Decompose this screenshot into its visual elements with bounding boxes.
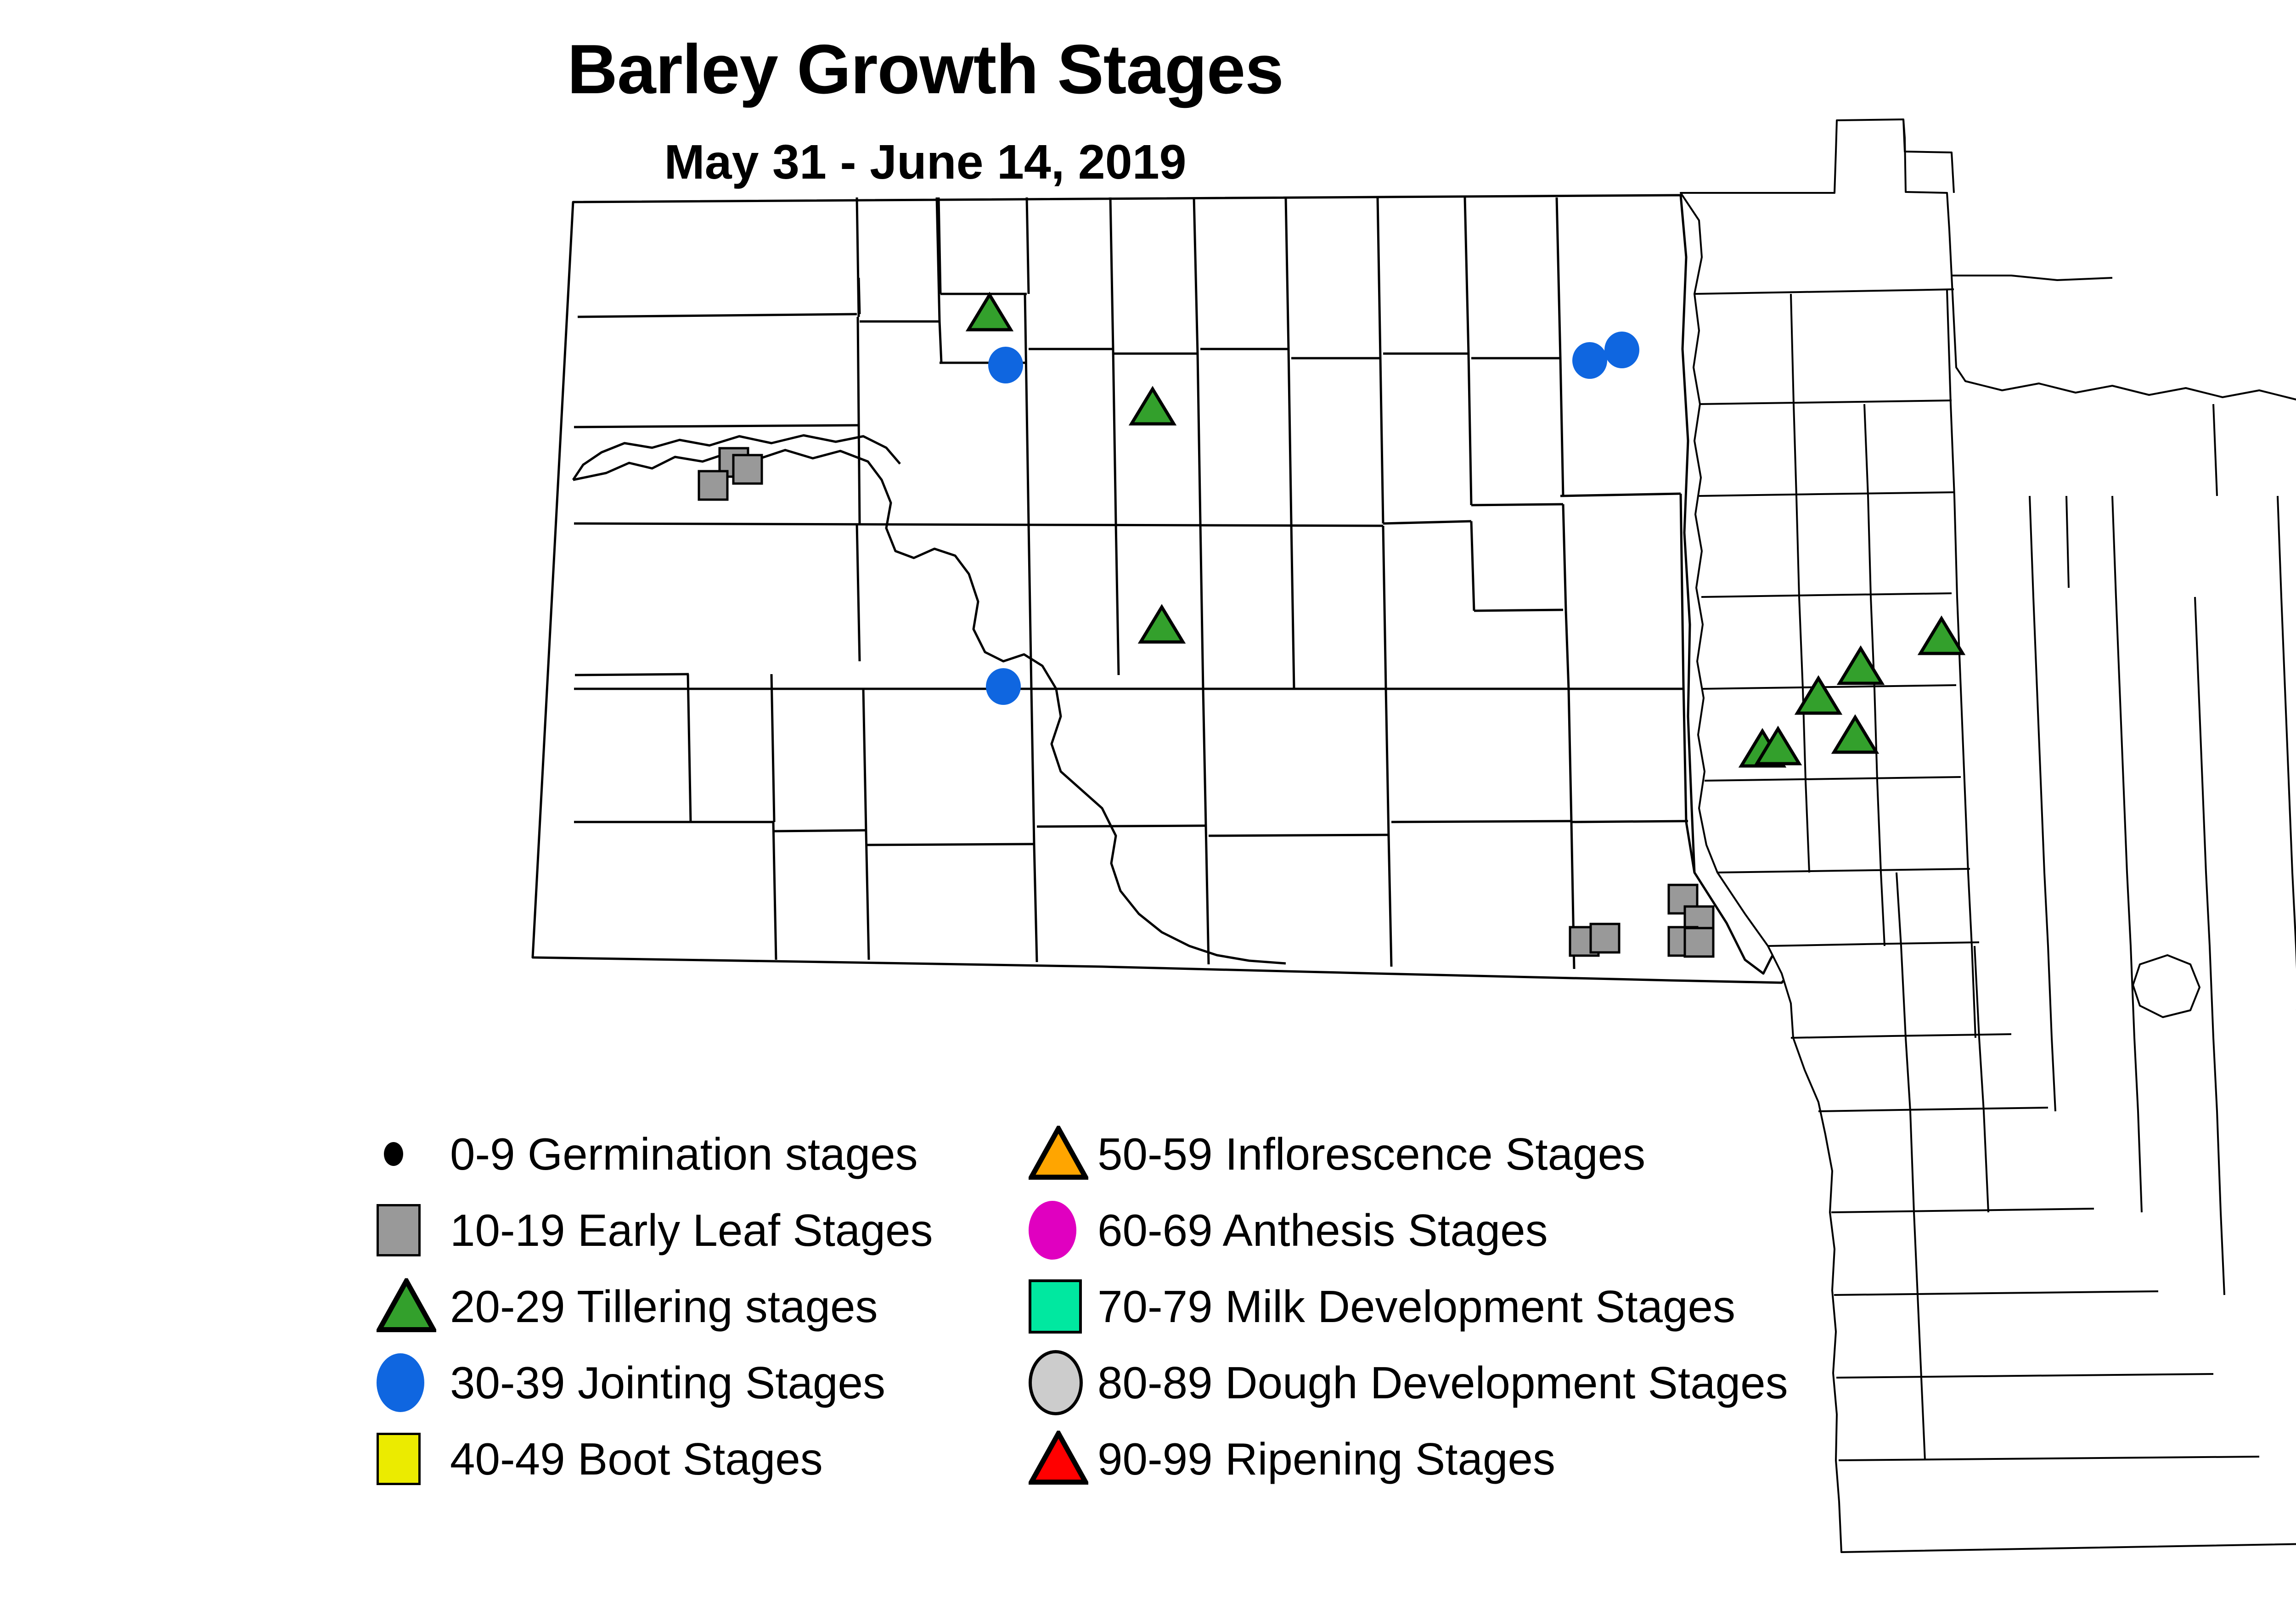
legend-item-milk-development[interactable]: 70-79 Milk Development Stages: [1010, 1268, 1919, 1345]
map-marker: [1572, 342, 1607, 379]
legend-item-label: 50-59 Inflorescence Stages: [1097, 1132, 1645, 1177]
circle-marker-icon: [1029, 1201, 1076, 1260]
legend-item-label: 90-99 Ripening Stages: [1097, 1436, 1555, 1481]
map-marker: [699, 471, 727, 500]
triangle-marker-icon: [377, 1278, 436, 1335]
date-range-subtitle: May 31 - June 14, 2019: [0, 138, 1851, 186]
legend-item-label: 60-69 Anthesis Stages: [1097, 1208, 1548, 1253]
legend-item-label: 40-49 Boot Stages: [450, 1436, 823, 1481]
map-marker: [986, 668, 1021, 705]
map-marker: [1797, 678, 1840, 713]
legend-item-tillering[interactable]: 20-29 Tillering stages: [358, 1268, 955, 1345]
map-marker: [1604, 332, 1639, 368]
legend-item-label: 70-79 Milk Development Stages: [1097, 1284, 1735, 1329]
map-marker: [1840, 648, 1882, 683]
map-marker: [968, 295, 1011, 330]
map-marker: [1131, 389, 1174, 424]
legend-item-label: 80-89 Dough Development Stages: [1097, 1360, 1788, 1405]
legend-item-anthesis[interactable]: 60-69 Anthesis Stages: [1010, 1192, 1919, 1268]
map-marker: [1834, 717, 1876, 752]
map-marker: [1141, 607, 1183, 642]
legend-item-germination[interactable]: 0-9 Germination stages: [358, 1116, 955, 1192]
map-marker: [988, 347, 1023, 383]
triangle-marker-icon: [1029, 1431, 1088, 1487]
legend-column-left: 0-9 Germination stages 10-19 Early Leaf …: [358, 1116, 955, 1497]
circle-marker-icon: [384, 1142, 403, 1166]
legend: 0-9 Germination stages 10-19 Early Leaf …: [358, 1116, 1919, 1483]
legend-item-boot[interactable]: 40-49 Boot Stages: [358, 1421, 955, 1497]
map-marker: [1685, 928, 1713, 957]
circle-marker-icon: [1029, 1350, 1083, 1415]
legend-item-ripening[interactable]: 90-99 Ripening Stages: [1010, 1421, 1919, 1497]
legend-item-inflorescence[interactable]: 50-59 Inflorescence Stages: [1010, 1116, 1919, 1192]
map-marker: [1920, 619, 1963, 653]
legend-item-label: 0-9 Germination stages: [450, 1132, 918, 1177]
square-marker-icon: [377, 1204, 421, 1256]
legend-column-right: 50-59 Inflorescence Stages 60-69 Anthesi…: [1010, 1116, 1919, 1497]
square-marker-icon: [1029, 1279, 1082, 1334]
square-marker-icon: [377, 1433, 421, 1485]
triangle-marker-icon: [1029, 1126, 1088, 1182]
page-title: Barley Growth Stages: [0, 34, 1851, 104]
legend-item-label: 10-19 Early Leaf Stages: [450, 1208, 933, 1253]
map-marker: [1591, 924, 1619, 952]
circle-marker-icon: [377, 1353, 424, 1412]
legend-item-dough-development[interactable]: 80-89 Dough Development Stages: [1010, 1345, 1919, 1421]
legend-item-jointing[interactable]: 30-39 Jointing Stages: [358, 1345, 955, 1421]
legend-item-early-leaf[interactable]: 10-19 Early Leaf Stages: [358, 1192, 955, 1268]
map-marker: [733, 455, 762, 484]
legend-item-label: 30-39 Jointing Stages: [450, 1360, 885, 1405]
legend-item-label: 20-29 Tillering stages: [450, 1284, 878, 1329]
